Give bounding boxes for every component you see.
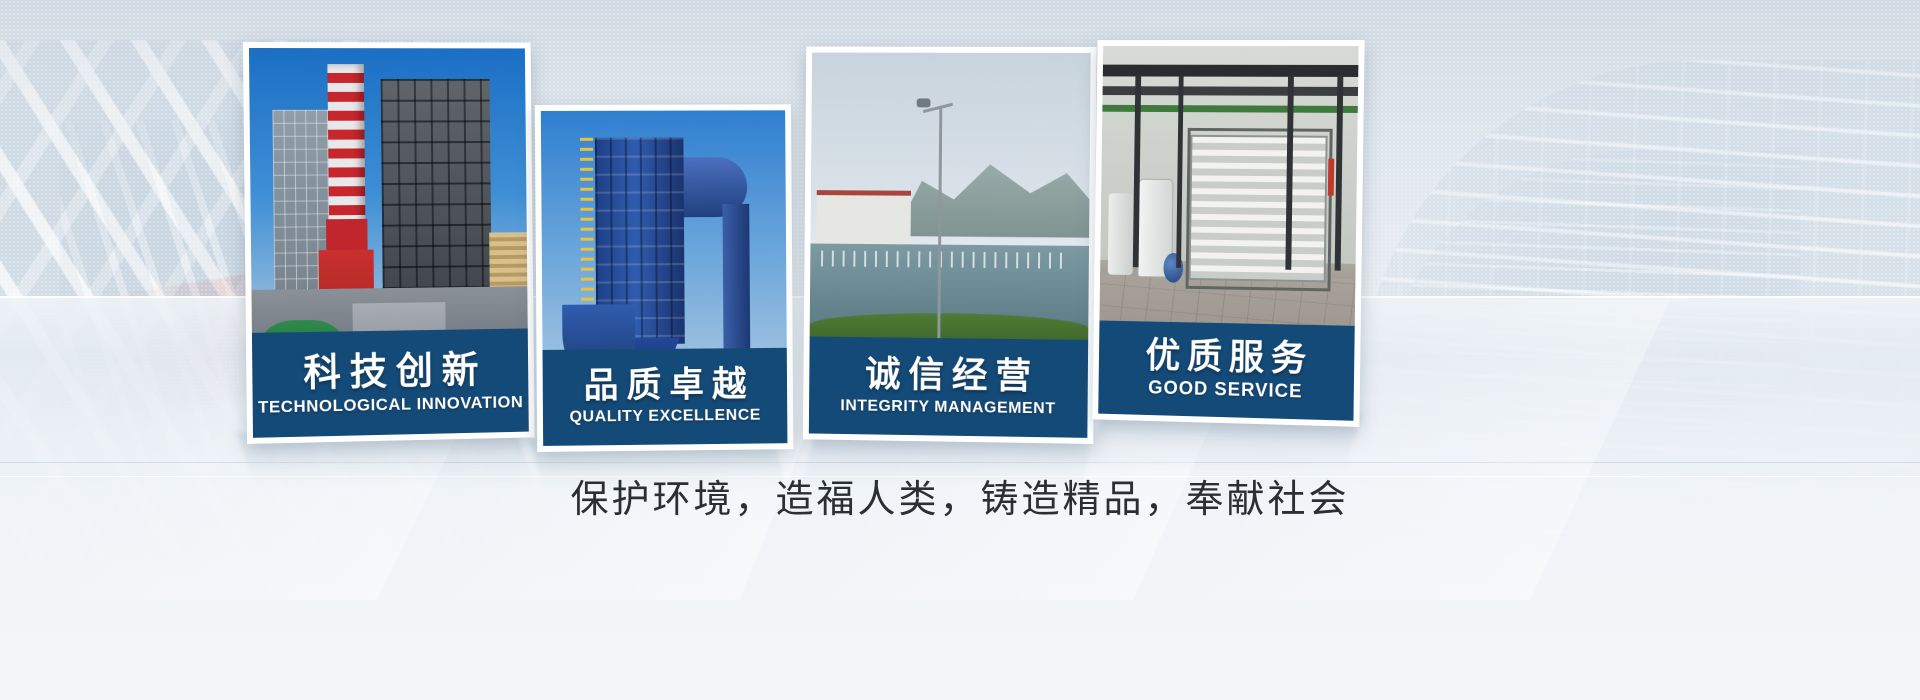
panel-title-cn: 优质服务 <box>1139 336 1314 380</box>
panel-title-cn: 诚信经营 <box>857 355 1039 398</box>
panel-title-en: INTEGRITY MANAGEMENT <box>840 396 1055 419</box>
panel-caption: 诚信经营 INTEGRITY MANAGEMENT <box>809 337 1088 438</box>
panel-inner: 品质卓越 QUALITY EXCELLENCE <box>541 110 788 446</box>
company-values-banner: 科技创新 TECHNOLOGICAL INNOVATION 品质卓越 QUALI… <box>0 0 1920 700</box>
panel-inner: 诚信经营 INTEGRITY MANAGEMENT <box>809 53 1091 438</box>
value-panel-integrity-management[interactable]: 诚信经营 INTEGRITY MANAGEMENT <box>803 47 1097 444</box>
panel-title-en: TECHNOLOGICAL INNOVATION <box>258 391 524 418</box>
panel-caption: 科技创新 TECHNOLOGICAL INNOVATION <box>252 328 529 437</box>
panel-inner: 优质服务 GOOD SERVICE <box>1098 46 1358 421</box>
panel-caption: 品质卓越 QUALITY EXCELLENCE <box>542 348 787 446</box>
floor-line-secondary <box>0 462 1920 463</box>
panel-inner: 科技创新 TECHNOLOGICAL INNOVATION <box>249 48 529 438</box>
value-panel-good-service[interactable]: 优质服务 GOOD SERVICE <box>1092 40 1364 427</box>
panel-title-cn: 科技创新 <box>294 349 487 395</box>
panel-title-en: GOOD SERVICE <box>1148 377 1303 405</box>
panel-caption: 优质服务 GOOD SERVICE <box>1098 321 1355 421</box>
panel-title-cn: 品质卓越 <box>576 366 755 407</box>
value-panel-technological-innovation[interactable]: 科技创新 TECHNOLOGICAL INNOVATION <box>243 42 535 444</box>
banner-tagline: 保护环境，造福人类，铸造精品，奉献社会 <box>0 468 1920 523</box>
value-panel-quality-excellence[interactable]: 品质卓越 QUALITY EXCELLENCE <box>535 104 794 452</box>
panel-title-en: QUALITY EXCELLENCE <box>569 406 761 428</box>
